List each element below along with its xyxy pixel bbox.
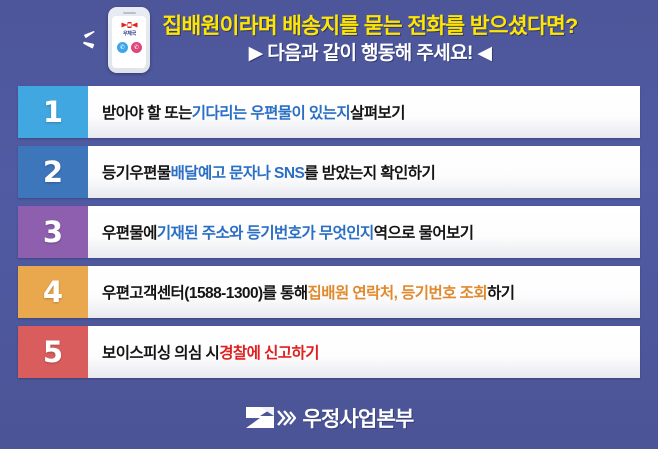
step-text-segment: 기다리는 우편물이 있는지 [192, 101, 350, 123]
organization-name: 우정사업본부 [302, 403, 413, 433]
step-number-badge: 1 [18, 86, 88, 138]
infographic-poster: 우체국 ✆ ✆ 집배원이라며 배송지를 묻는 전화를 받으셨다면? ▶ 다음과 … [0, 0, 658, 449]
phone-post-label: 우체국 [123, 30, 136, 37]
header-banner: 우체국 ✆ ✆ 집배원이라며 배송지를 묻는 전화를 받으셨다면? ▶ 다음과 … [0, 0, 658, 80]
step-text: 우편물에 기재된 주소와 등기번호가 무엇인지 역으로 물어보기 [88, 206, 640, 258]
step-row: 4우편고객센터(1588-1300)를 통해 집배원 연락처, 등기번호 조회하… [18, 266, 640, 318]
step-text-segment: 배달예고 문자나 SNS [171, 161, 305, 183]
step-text-segment: 를 받았는지 확인하기 [304, 161, 435, 183]
step-row: 2등기우편물 배달예고 문자나 SNS를 받았는지 확인하기 [18, 146, 640, 198]
step-row: 3우편물에 기재된 주소와 등기번호가 무엇인지 역으로 물어보기 [18, 206, 640, 258]
step-text-segment: 기재된 주소와 등기번호가 무엇인지 [157, 221, 374, 243]
step-text: 받아야 할 또는 기다리는 우편물이 있는지 살펴보기 [88, 86, 640, 138]
footer: 우정사업본부 [0, 403, 658, 433]
step-text-segment: 경찰에 신고하기 [219, 341, 319, 363]
step-text: 우편고객센터(1588-1300)를 통해 집배원 연락처, 등기번호 조회하기 [88, 266, 640, 318]
step-row: 1받아야 할 또는 기다리는 우편물이 있는지 살펴보기 [18, 86, 640, 138]
step-text-segment: 하기 [487, 281, 514, 303]
korea-post-logo-icon [121, 21, 138, 29]
step-text-segment: 받아야 할 또는 [102, 101, 192, 123]
step-text-segment: 집배원 연락처, 등기번호 조회 [308, 281, 488, 303]
step-row: 5보이스피싱 의심 시 경찰에 신고하기 [18, 326, 640, 378]
phone-screen: 우체국 ✆ ✆ [112, 16, 146, 68]
steps-list: 1받아야 할 또는 기다리는 우편물이 있는지 살펴보기2등기우편물 배달예고 … [18, 86, 640, 386]
step-number-badge: 5 [18, 326, 88, 378]
phone-ringing-icon [80, 23, 98, 57]
step-text-segment: 보이스피싱 의심 시 [102, 341, 219, 363]
call-buttons: ✆ ✆ [117, 42, 142, 53]
step-text-segment: 살펴보기 [350, 101, 405, 123]
header-titles: 집배원이라며 배송지를 묻는 전화를 받으셨다면? ▶ 다음과 같이 행동해 주… [162, 14, 577, 66]
step-number-badge: 2 [18, 146, 88, 198]
call-reject-icon[interactable]: ✆ [131, 42, 142, 53]
call-accept-icon[interactable]: ✆ [117, 42, 128, 53]
step-text-segment: 우편물에 [102, 221, 157, 243]
step-text-segment: 우편고객센터(1588-1300)를 통해 [102, 281, 308, 303]
smartphone-icon: 우체국 ✆ ✆ [108, 7, 150, 73]
step-text-segment: 역으로 물어보기 [374, 221, 474, 243]
step-number-badge: 4 [18, 266, 88, 318]
step-text: 등기우편물 배달예고 문자나 SNS를 받았는지 확인하기 [88, 146, 640, 198]
poster-title: 집배원이라며 배송지를 묻는 전화를 받으셨다면? [162, 14, 577, 39]
step-text-segment: 등기우편물 [102, 161, 171, 183]
step-text: 보이스피싱 의심 시 경찰에 신고하기 [88, 326, 640, 378]
poster-subtitle: ▶ 다음과 같이 행동해 주세요! ◀ [249, 42, 492, 66]
korea-post-swallow-logo-icon [244, 403, 296, 433]
step-number-badge: 3 [18, 206, 88, 258]
phone-speaker [123, 12, 136, 14]
